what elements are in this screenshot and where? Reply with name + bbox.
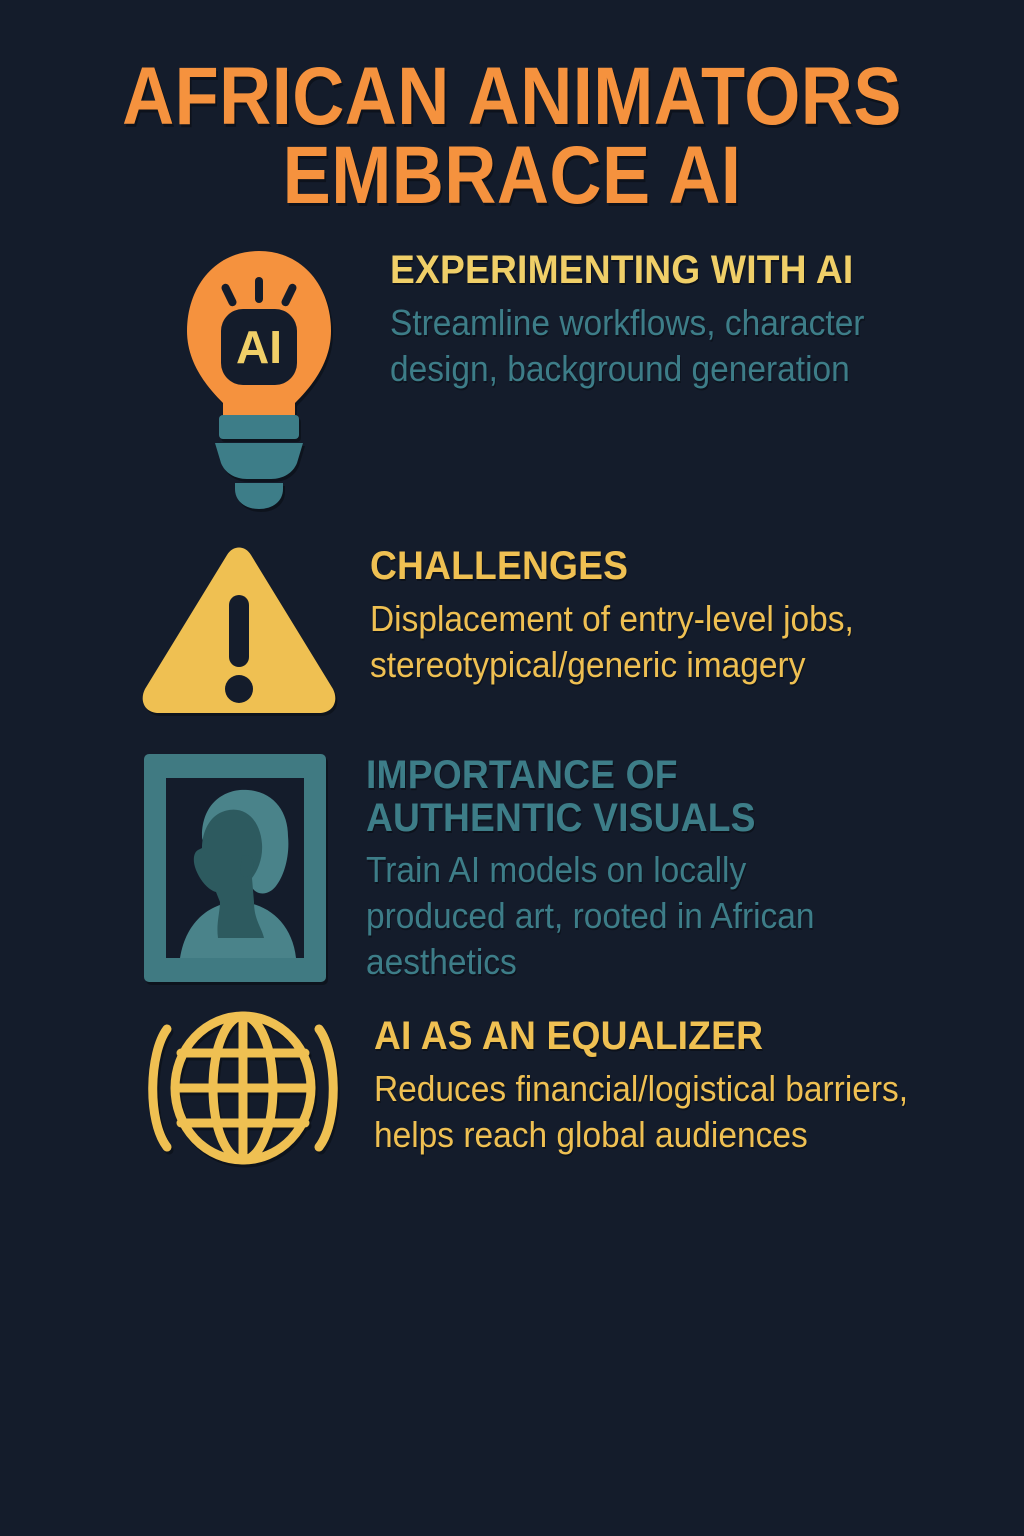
icon-column (96, 752, 374, 984)
lightbulb-ai-icon: AI (181, 247, 337, 497)
section-body-challenges: Displacement of entry-level jobs, stereo… (370, 596, 909, 688)
section-heading-ai-as-an-equalizer: AI AS AN EQUALIZER (374, 1015, 941, 1057)
text-column: IMPORTANCE OF AUTHENTIC VISUALS Train AI… (366, 752, 984, 985)
icon-column (100, 543, 378, 718)
section-heading-experimenting-with-ai: EXPERIMENTING WITH AI (390, 249, 942, 291)
section-experimenting-with-ai: AI EXPERIMENTING WITH AI Streamline work… (0, 247, 1024, 497)
icon-column (104, 1013, 382, 1163)
title-line-2: EMBRACE AI (61, 137, 962, 216)
text-column: CHALLENGES Displacement of entry-level j… (370, 543, 984, 688)
title-line-1: AFRICAN ANIMATORS (61, 58, 962, 137)
icon-column: AI (120, 247, 398, 497)
lightbulb-ai-label: AI (236, 321, 282, 373)
section-ai-as-an-equalizer: AI AS AN EQUALIZER Reduces financial/log… (0, 1013, 1024, 1163)
warning-triangle-icon (139, 543, 339, 718)
section-importance-of-authentic-visuals: IMPORTANCE OF AUTHENTIC VISUALS Train AI… (0, 752, 1024, 985)
globe-icon (145, 1013, 341, 1163)
page-title: AFRICAN ANIMATORS EMBRACE AI (0, 0, 1024, 215)
section-body-ai-as-an-equalizer: Reduces financial/logistical barriers, h… (374, 1066, 913, 1158)
text-column: EXPERIMENTING WITH AI Streamline workflo… (390, 247, 984, 392)
text-column: AI AS AN EQUALIZER Reduces financial/log… (374, 1013, 984, 1158)
infographic-poster: AFRICAN ANIMATORS EMBRACE AI AI (0, 0, 1024, 1536)
section-heading-importance-of-authentic-visuals: IMPORTANCE OF AUTHENTIC VISUALS (366, 754, 831, 839)
section-heading-challenges: CHALLENGES (370, 545, 941, 587)
section-body-experimenting-with-ai: Streamline workflows, character design, … (390, 300, 892, 392)
section-challenges: CHALLENGES Displacement of entry-level j… (0, 543, 1024, 718)
section-body-importance-of-authentic-visuals: Train AI models on locally produced art,… (366, 847, 850, 985)
framed-portrait-icon (142, 752, 328, 984)
